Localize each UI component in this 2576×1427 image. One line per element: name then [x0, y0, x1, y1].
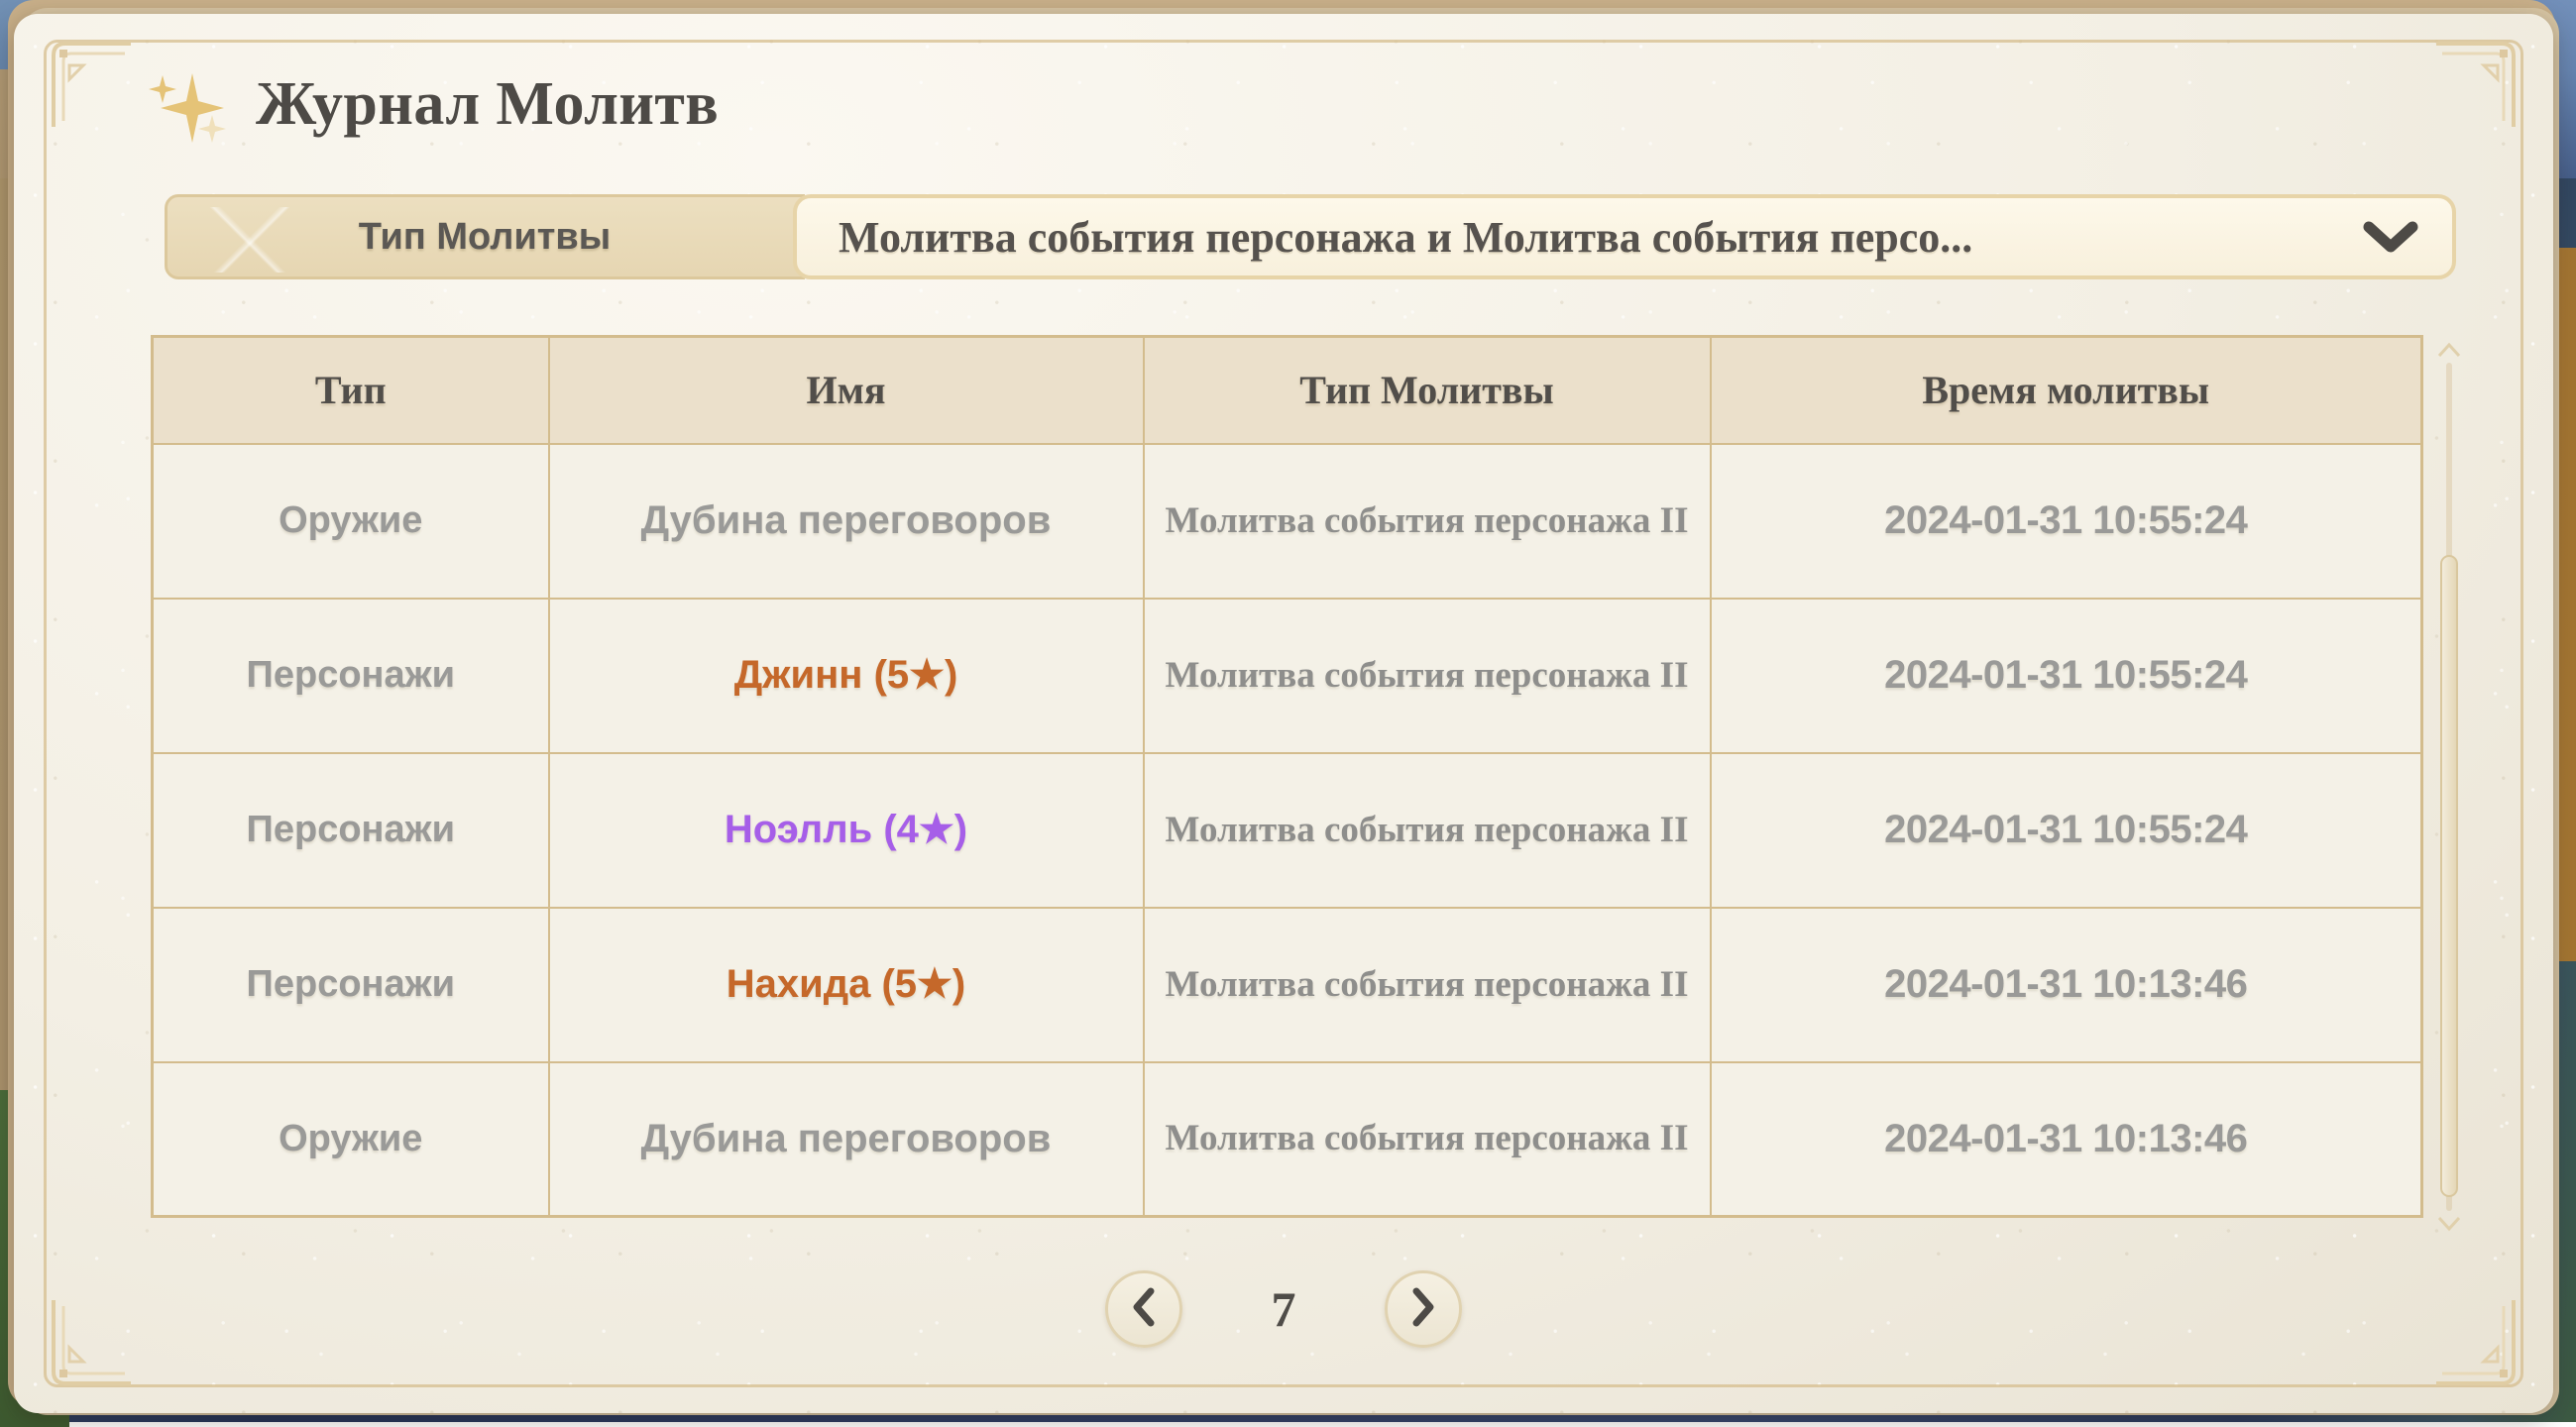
chevron-down-icon[interactable] — [2363, 219, 2418, 255]
column-header-name: Имя — [549, 337, 1144, 444]
cell-name: Дубина переговоров — [549, 444, 1144, 599]
column-header-wish-type: Тип Молитвы — [1144, 337, 1711, 444]
cell-wish-type: Молитва события персонажа II — [1144, 1062, 1711, 1217]
current-page-number: 7 — [1264, 1280, 1303, 1338]
table-row: Персонажи Джинн (5★) Молитва события пер… — [153, 599, 2422, 753]
cell-time: 2024-01-31 10:55:24 — [1711, 753, 2422, 908]
wish-type-dropdown[interactable]: Молитва события персонажа и Молитва собы… — [793, 194, 2456, 279]
chevron-left-icon — [1127, 1286, 1161, 1333]
column-header-time: Время молитвы — [1711, 337, 2422, 444]
wish-history-panel: Журнал Молитв Тип Молитвы Молитва событи… — [14, 14, 2553, 1413]
cell-name: Нахида (5★) — [549, 908, 1144, 1062]
sparkle-icon — [145, 61, 230, 147]
cell-wish-type: Молитва события персонажа II — [1144, 908, 1711, 1062]
cell-name: Ноэлль (4★) — [549, 753, 1144, 908]
table-header-row: Тип Имя Тип Молитвы Время молитвы — [153, 337, 2422, 444]
cell-type: Персонажи — [153, 753, 549, 908]
table-row: Персонажи Ноэлль (4★) Молитва события пе… — [153, 753, 2422, 908]
table-scrollbar[interactable] — [2436, 341, 2462, 1233]
cell-type: Оружие — [153, 444, 549, 599]
cell-wish-type: Молитва события персонажа II — [1144, 753, 1711, 908]
page-title: Журнал Молитв — [256, 69, 719, 140]
cell-name: Дубина переговоров — [549, 1062, 1144, 1217]
corner-ornament-icon — [40, 36, 135, 131]
wish-type-filter: Тип Молитвы Молитва события персонажа и … — [165, 194, 2456, 279]
page-header: Журнал Молитв — [145, 61, 719, 147]
cell-type: Персонажи — [153, 599, 549, 753]
corner-ornament-icon — [2432, 36, 2527, 131]
table-row: Оружие Дубина переговоров Молитва событи… — [153, 444, 2422, 599]
previous-page-button[interactable] — [1105, 1270, 1182, 1348]
wish-type-dropdown-value: Молитва события персонажа и Молитва собы… — [839, 212, 2345, 263]
cell-time: 2024-01-31 10:55:24 — [1711, 444, 2422, 599]
scrollbar-thumb[interactable] — [2440, 555, 2458, 1197]
cell-time: 2024-01-31 10:13:46 — [1711, 908, 2422, 1062]
cell-type: Персонажи — [153, 908, 549, 1062]
pagination: 7 — [14, 1270, 2553, 1348]
wish-history-table-container: Тип Имя Тип Молитвы Время молитвы Оружие… — [151, 335, 2420, 1239]
cell-time: 2024-01-31 10:55:24 — [1711, 599, 2422, 753]
filter-label-text: Тип Молитвы — [359, 216, 611, 259]
cell-name: Джинн (5★) — [549, 599, 1144, 753]
cell-wish-type: Молитва события персонажа II — [1144, 599, 1711, 753]
wish-type-filter-label: Тип Молитвы — [165, 194, 805, 279]
scroll-up-arrow-icon[interactable] — [2436, 341, 2462, 359]
column-header-type: Тип — [153, 337, 549, 444]
chevron-right-icon — [1406, 1286, 1440, 1333]
table-row: Оружие Дубина переговоров Молитва событи… — [153, 1062, 2422, 1217]
table-row: Персонажи Нахида (5★) Молитва события пе… — [153, 908, 2422, 1062]
cell-wish-type: Молитва события персонажа II — [1144, 444, 1711, 599]
cell-time: 2024-01-31 10:13:46 — [1711, 1062, 2422, 1217]
wish-history-table: Тип Имя Тип Молитвы Время молитвы Оружие… — [151, 335, 2423, 1218]
cell-type: Оружие — [153, 1062, 549, 1217]
scroll-down-arrow-icon[interactable] — [2436, 1215, 2462, 1233]
next-page-button[interactable] — [1385, 1270, 1462, 1348]
